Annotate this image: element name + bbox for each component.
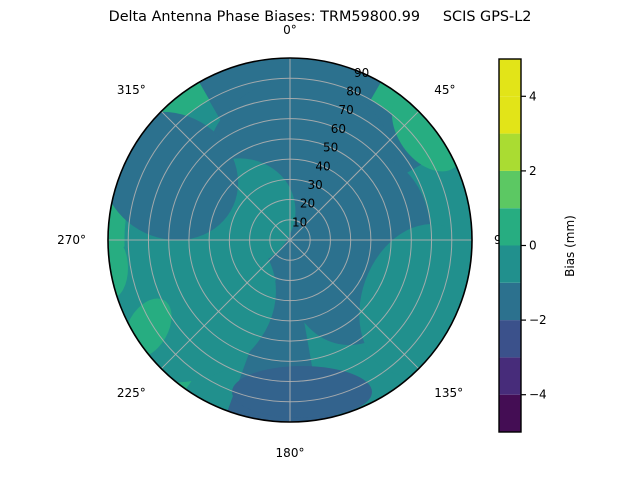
radial-tick-90: 90 <box>354 66 369 80</box>
colorbar-ticklabel-4: 4 <box>529 89 537 103</box>
radial-tick-40: 40 <box>315 159 330 173</box>
angular-tick-45: 45° <box>434 83 455 97</box>
colorbar-ticklabel--2: −2 <box>529 313 547 327</box>
colorbar-band-5 <box>499 208 521 245</box>
angular-tick-225: 225° <box>117 386 146 400</box>
radial-tick-50: 50 <box>323 141 338 155</box>
colorbar-band-4 <box>499 246 521 283</box>
colorbar-ticklabel-0: 0 <box>529 239 537 253</box>
colorbar-band-8 <box>499 96 521 133</box>
radial-tick-70: 70 <box>339 103 354 117</box>
colorbar-band-6 <box>499 171 521 208</box>
radial-tick-20: 20 <box>300 197 315 211</box>
contour-blob-south-blue <box>232 366 372 418</box>
radial-tick-60: 60 <box>331 122 346 136</box>
colorbar-ticklabel-2: 2 <box>529 164 537 178</box>
radial-tick-80: 80 <box>346 85 361 99</box>
colorbar-band-2 <box>499 320 521 357</box>
colorbar-band-0 <box>499 395 521 432</box>
colorbar-band-3 <box>499 283 521 320</box>
radial-tick-10: 10 <box>292 215 307 229</box>
angular-tick-270: 270° <box>57 233 86 247</box>
polar-plot-axes: 0°45°90°135°180°225°270°315° 10203040506… <box>0 0 640 480</box>
colorbar[interactable]: 420−2−4 Bias (mm) <box>499 59 577 432</box>
colorbar-axis-label: Bias (mm) <box>563 215 577 277</box>
angular-tick-315: 315° <box>117 83 146 97</box>
figure-canvas: Delta Antenna Phase Biases: TRM59800.99 … <box>0 0 640 480</box>
radial-tick-30: 30 <box>308 178 323 192</box>
colorbar-ticklabel--4: −4 <box>529 388 547 402</box>
colorbar-band-9 <box>499 59 521 96</box>
colorbar-band-7 <box>499 134 521 171</box>
angular-tick-180: 180° <box>276 446 305 460</box>
colorbar-band-1 <box>499 357 521 394</box>
angular-tick-0: 0° <box>283 23 297 37</box>
contour-blob-west-bright <box>96 238 128 298</box>
angular-tick-135: 135° <box>434 386 463 400</box>
polar-grid <box>108 58 472 422</box>
